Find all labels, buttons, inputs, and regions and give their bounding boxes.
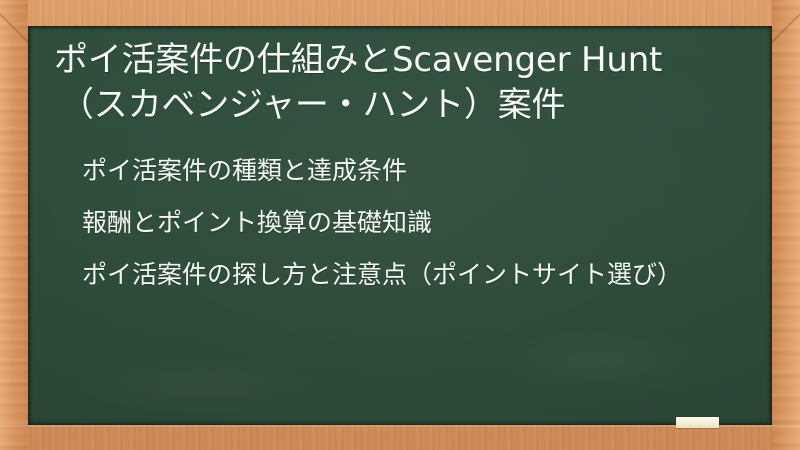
list-item: ポイ活案件の種類と達成条件 xyxy=(54,154,754,188)
frame-left-stile xyxy=(0,0,28,450)
chalk-stick-icon xyxy=(676,417,719,428)
chalkboard-card: ポイ活案件の仕組みとScavenger Hunt （スカベンジャー・ハント）案件… xyxy=(0,0,800,450)
page-title: ポイ活案件の仕組みとScavenger Hunt （スカベンジャー・ハント）案件 xyxy=(54,34,754,128)
list-item: ポイ活案件の探し方と注意点（ポイントサイト選び） xyxy=(54,258,754,292)
list-item: 報酬とポイント換算の基礎知識 xyxy=(54,206,754,240)
board-surface: ポイ活案件の仕組みとScavenger Hunt （スカベンジャー・ハント）案件… xyxy=(28,26,772,425)
topic-list: ポイ活案件の種類と達成条件 報酬とポイント換算の基礎知識 ポイ活案件の探し方と注… xyxy=(54,154,754,292)
page-title-line-2: （スカベンジャー・ハント）案件 xyxy=(54,83,754,128)
frame-right-stile xyxy=(772,0,800,450)
board-content: ポイ活案件の仕組みとScavenger Hunt （スカベンジャー・ハント）案件… xyxy=(28,26,772,425)
page-title-line-1: ポイ活案件の仕組みとScavenger Hunt xyxy=(54,38,754,83)
